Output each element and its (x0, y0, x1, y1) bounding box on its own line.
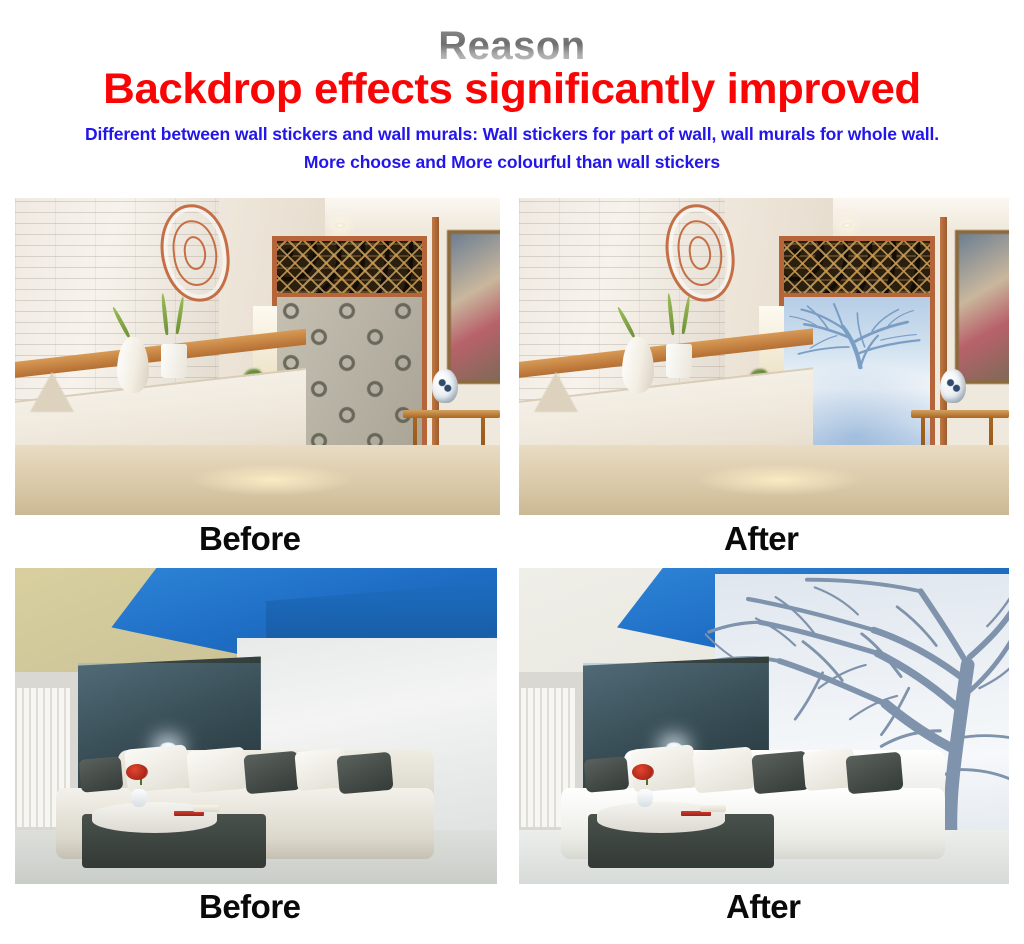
photo-living-room-after (519, 568, 1009, 884)
page-title: Backdrop effects significantly improved (0, 68, 1024, 112)
white-vase (622, 337, 654, 393)
framed-artwork (955, 230, 1009, 384)
sofa-cushion (186, 746, 247, 793)
floor-light-reflection (695, 464, 862, 496)
cone-ornament (30, 372, 74, 412)
tray (700, 805, 726, 812)
book (174, 811, 204, 816)
carved-transom (784, 241, 931, 297)
header: Reason Backdrop effects significantly im… (0, 0, 1024, 173)
caption-living-room-before: Before (199, 890, 301, 923)
photo-hallway-after (519, 198, 1009, 515)
flower-vase (637, 789, 653, 807)
flower-vase (131, 789, 147, 807)
carved-transom (277, 241, 422, 297)
sofa-cushion-dark (846, 751, 904, 794)
eyebrow-title: Reason (0, 26, 1024, 66)
promo-banner: Reason Backdrop effects significantly im… (0, 0, 1024, 944)
plant-pot (161, 344, 187, 378)
tray (193, 805, 219, 812)
red-flowers (126, 764, 148, 780)
framed-artwork (447, 230, 500, 384)
door-post (432, 217, 439, 458)
plant-pot (666, 344, 692, 378)
book (681, 811, 711, 816)
sofa-cushion (693, 746, 755, 793)
photo-living-room-before (15, 568, 497, 884)
decorative-urn (432, 369, 458, 403)
sofa-cushion-dark (244, 750, 301, 794)
sofa-cushion-dark (78, 756, 123, 792)
console-table (403, 410, 500, 418)
door-post (940, 217, 947, 458)
caption-living-room-after: After (726, 890, 801, 923)
sofa-cushion-dark (336, 752, 393, 794)
sofa-cushion-dark (583, 756, 629, 792)
photo-hallway-before (15, 198, 500, 515)
red-flowers (632, 764, 654, 780)
console-table (911, 410, 1009, 418)
decorative-urn (940, 369, 966, 403)
floor-light-reflection (190, 464, 355, 496)
sofa-cushion-dark (752, 750, 810, 794)
subtitle-line-1: Different between wall stickers and wall… (0, 124, 1024, 145)
subtitle-line-2: More choose and More colourful than wall… (0, 152, 1024, 173)
cone-ornament (534, 372, 578, 412)
caption-hallway-before: Before (199, 522, 301, 555)
white-vase (117, 337, 149, 393)
caption-hallway-after: After (724, 522, 799, 555)
